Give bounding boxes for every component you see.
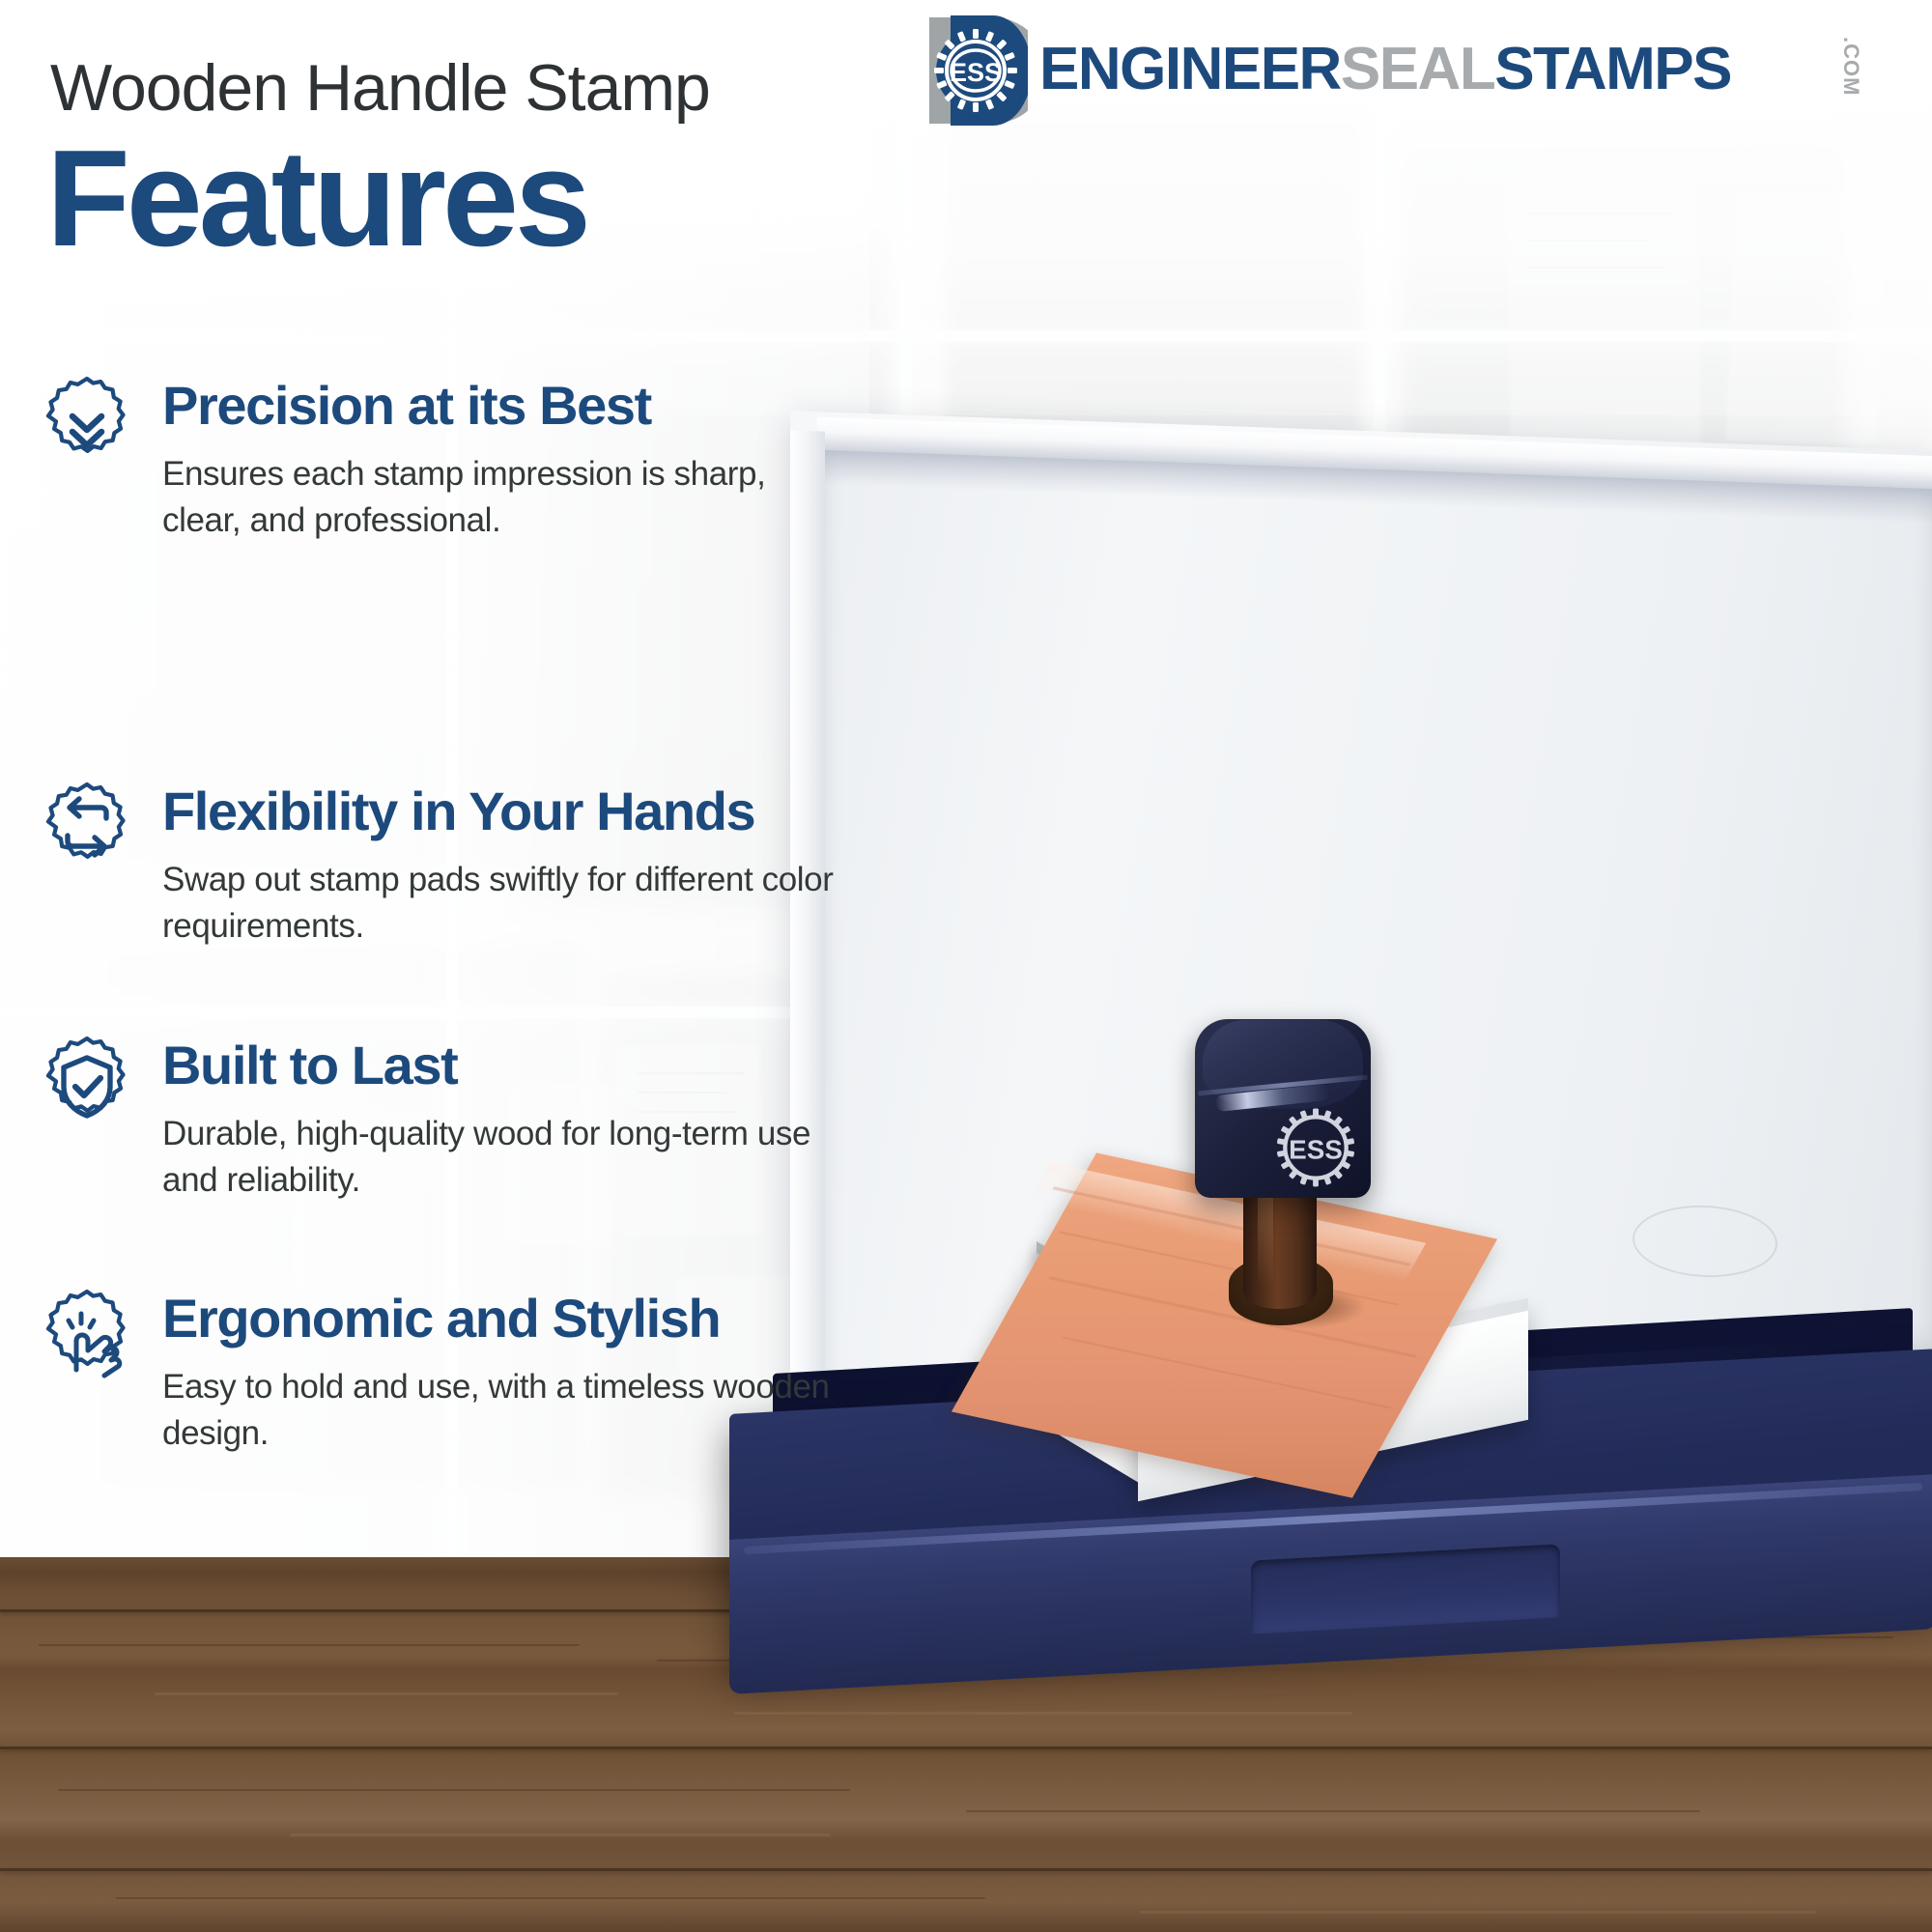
shield-check-badge-icon — [33, 1032, 141, 1140]
brand-wordmark: ENGINEERSEALSTAMPS — [1039, 35, 1731, 103]
feature-body: Durable, high-quality wood for long-term… — [162, 1111, 838, 1205]
double-chevron-down-badge-icon — [33, 372, 141, 480]
feature-heading: Ergonomic and Stylish — [162, 1291, 720, 1348]
ess-badge-label: ESS — [950, 58, 1002, 87]
feature-heading: Built to Last — [162, 1037, 457, 1094]
ess-gear-badge-icon: ESS — [912, 14, 1028, 128]
tap-hand-badge-icon — [33, 1285, 141, 1393]
wordmark-seal: SEAL — [1341, 36, 1494, 102]
swap-arrows-badge-icon — [33, 778, 141, 886]
infographic-content: Wooden Handle Stamp Features — [0, 0, 1932, 1932]
page-title: Features — [46, 130, 587, 268]
feature-body: Ensures each stamp impression is sharp, … — [162, 451, 838, 545]
feature-body: Easy to hold and use, with a timeless wo… — [162, 1364, 838, 1458]
feature-body: Swap out stamp pads swiftly for differen… — [162, 857, 838, 951]
feature-heading: Flexibility in Your Hands — [162, 783, 754, 840]
page-eyebrow: Wooden Handle Stamp — [50, 50, 710, 126]
feature-heading: Precision at its Best — [162, 378, 651, 435]
wordmark-tld: .COM — [1838, 37, 1863, 96]
wordmark-stamps: STAMPS — [1494, 36, 1731, 102]
wordmark-engineer: ENGINEER — [1039, 36, 1341, 102]
brand-logo[interactable]: ESS ENGINEERSEALSTAMPS .COM — [912, 8, 1917, 124]
